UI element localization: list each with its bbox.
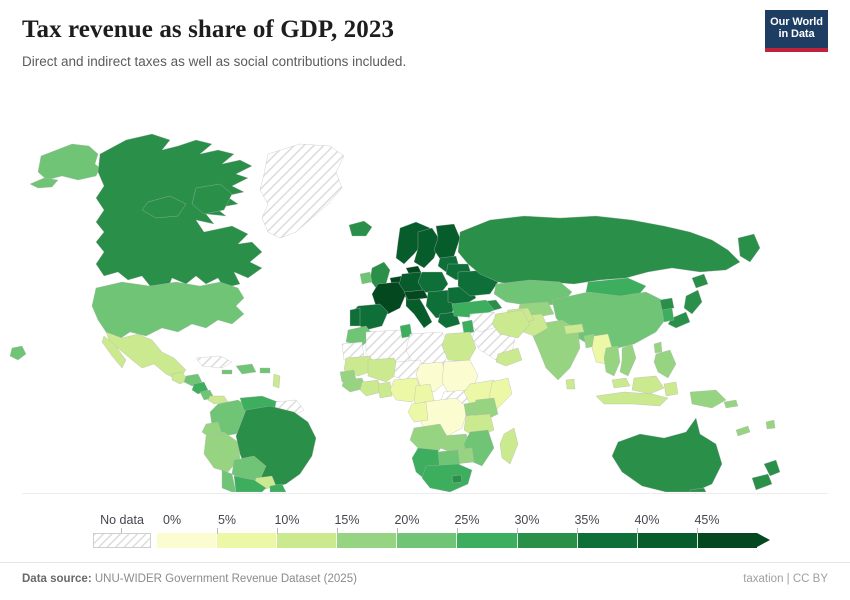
region-israel-jordan[interactable] [462, 320, 474, 334]
chart-footer: Data source: UNU-WIDER Government Revenu… [0, 562, 850, 600]
region-papua-new-guinea[interactable] [690, 390, 726, 408]
region-puerto-rico[interactable] [260, 368, 270, 373]
region-sri-lanka[interactable] [566, 379, 575, 389]
region-borneo[interactable] [632, 376, 664, 394]
legend-tickmark-45% [697, 528, 698, 534]
no-data-hatch-icon [93, 533, 151, 548]
region-ireland[interactable] [360, 272, 372, 284]
region-lesotho[interactable] [452, 475, 462, 483]
license-note[interactable]: taxation | CC BY [743, 573, 828, 585]
legend-tick-15%: 15% [334, 513, 359, 527]
legend-bin-20%[interactable] [397, 533, 457, 548]
region-madagascar[interactable] [500, 428, 518, 464]
legend-color-scale[interactable] [157, 533, 757, 548]
region-iceland[interactable] [349, 221, 372, 236]
region-new-zealand-south[interactable] [752, 474, 772, 490]
region-taiwan[interactable] [654, 342, 662, 353]
region-hawaii[interactable] [10, 346, 26, 360]
region-hokkaido[interactable] [692, 274, 708, 288]
world-map[interactable] [0, 92, 850, 492]
legend-tickmark-40% [637, 528, 638, 534]
region-alaska[interactable] [38, 144, 100, 180]
region-philippines[interactable] [654, 350, 676, 378]
map-legend: No data 0%5%10%15%20%25%30%35%40%45% [0, 497, 850, 555]
legend-tick-10%: 10% [274, 513, 299, 527]
data-source-text: UNU-WIDER Government Revenue Dataset (20… [95, 573, 357, 585]
legend-bins[interactable] [157, 533, 757, 548]
region-jamaica[interactable] [222, 370, 232, 374]
legend-tickmark-30% [517, 528, 518, 534]
region-japan[interactable] [684, 290, 702, 314]
page-subtitle: Direct and indirect taxes as well as soc… [22, 54, 828, 70]
legend-open-ended-arrow [757, 533, 770, 547]
region-south-africa[interactable] [422, 464, 472, 492]
legend-bin-10%[interactable] [277, 533, 337, 548]
world-map-svg[interactable] [0, 92, 850, 492]
page-title: Tax revenue as share of GDP, 2023 [22, 16, 828, 45]
hatch-pattern-icon [94, 534, 150, 547]
logo-line-2: in Data [779, 29, 815, 41]
legend-bin-45%[interactable] [698, 533, 757, 548]
legend-bin-0%[interactable] [157, 533, 217, 548]
region-nepal[interactable] [564, 324, 584, 334]
region-aleutians[interactable] [30, 178, 58, 188]
legend-bin-40%[interactable] [638, 533, 698, 548]
legend-tick-40%: 40% [634, 513, 659, 527]
legend-tickmark-35% [577, 528, 578, 534]
owid-map-chart: Tax revenue as share of GDP, 2023 Direct… [0, 0, 850, 600]
region-indonesia[interactable] [596, 392, 668, 406]
legend-tickmark-5% [217, 528, 218, 534]
region-south-korea[interactable] [662, 308, 674, 322]
region-new-zealand[interactable] [764, 460, 780, 476]
legend-bin-30%[interactable] [518, 533, 578, 548]
data-source[interactable]: Data source: UNU-WIDER Government Revenu… [22, 573, 357, 585]
region-russia[interactable] [458, 216, 740, 286]
region-switzerland-austria[interactable] [404, 290, 428, 300]
region-australia[interactable] [612, 418, 722, 492]
region-greenland[interactable] [260, 144, 344, 238]
chart-header: Tax revenue as share of GDP, 2023 Direct… [0, 0, 850, 70]
region-portugal[interactable] [350, 308, 360, 326]
legend-tick-20%: 20% [394, 513, 419, 527]
legend-bin-15%[interactable] [337, 533, 397, 548]
legend-tickmark-15% [337, 528, 338, 534]
region-new-caledonia[interactable] [736, 426, 750, 436]
legend-divider [22, 493, 828, 494]
legend-tick-0%: 0% [163, 513, 181, 527]
legend-tick-45%: 45% [694, 513, 719, 527]
our-world-in-data-logo[interactable]: Our World in Data [765, 10, 828, 52]
region-vietnam[interactable] [620, 344, 636, 376]
region-egypt[interactable] [442, 332, 476, 362]
region-lesser-antilles[interactable] [273, 374, 280, 388]
legend-tickmark-25% [457, 528, 458, 534]
region-malaysia[interactable] [612, 378, 630, 388]
legend-tick-30%: 30% [514, 513, 539, 527]
region-kamchatka[interactable] [738, 234, 760, 262]
region-thailand[interactable] [604, 346, 620, 376]
region-hispaniola[interactable] [236, 364, 256, 374]
legend-tick-25%: 25% [454, 513, 479, 527]
region-north-korea[interactable] [660, 298, 674, 310]
region-gabon-congo[interactable] [408, 402, 428, 422]
region-united-states[interactable] [92, 282, 244, 340]
legend-tickmark-20% [397, 528, 398, 534]
legend-tickmark-10% [277, 528, 278, 534]
legend-bin-35%[interactable] [578, 533, 638, 548]
region-cuba[interactable] [196, 356, 232, 368]
legend-bin-25%[interactable] [457, 533, 517, 548]
data-source-prefix: Data source: [22, 573, 92, 585]
legend-no-data-swatch[interactable] [93, 533, 151, 548]
legend-tick-labels: 0%5%10%15%20%25%30%35%40%45% [0, 497, 850, 517]
legend-tick-5%: 5% [218, 513, 236, 527]
legend-bin-5%[interactable] [217, 533, 277, 548]
legend-tick-35%: 35% [574, 513, 599, 527]
region-fiji[interactable] [766, 420, 775, 429]
region-sulawesi[interactable] [664, 382, 678, 396]
region-solomon-islands[interactable] [724, 400, 738, 408]
